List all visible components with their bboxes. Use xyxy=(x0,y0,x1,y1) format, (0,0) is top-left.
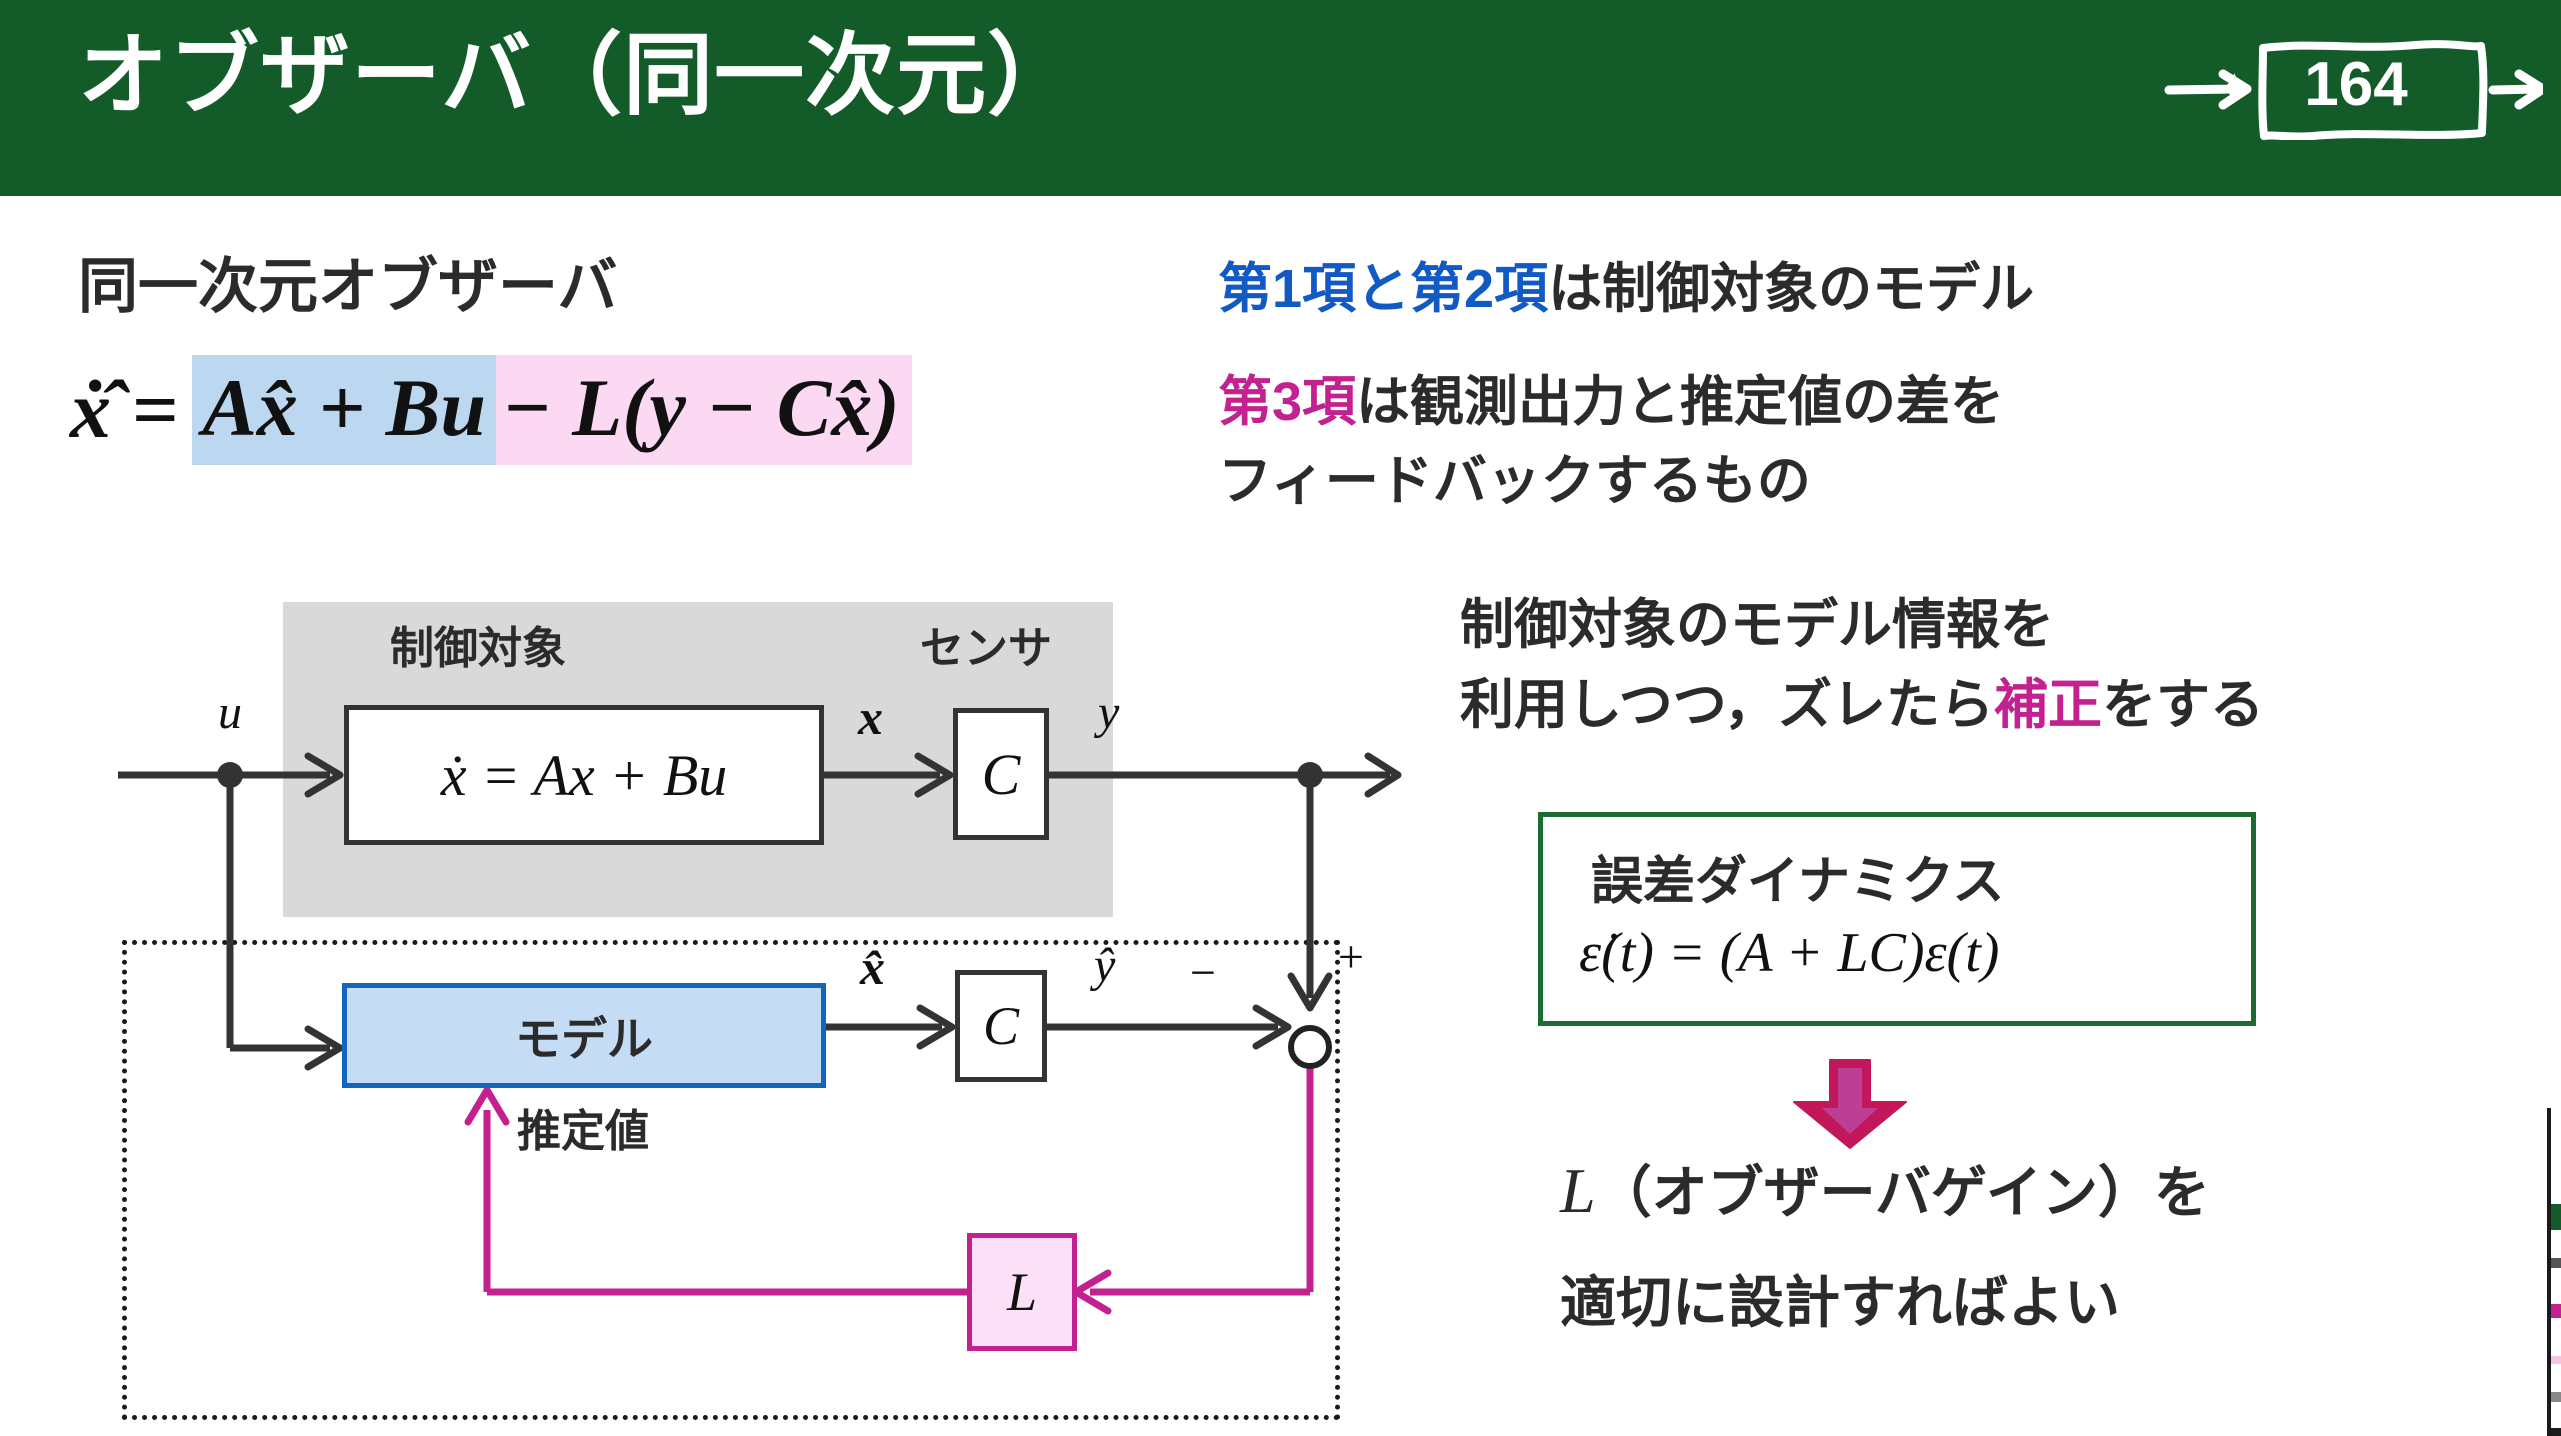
note-line-1: 第1項と第2項は制御対象のモデル xyxy=(1218,252,2034,327)
note-2-rest: は観測出力と推定値の差を xyxy=(1356,372,2004,432)
note-1-highlight: 第1項と第2項 xyxy=(1218,259,1548,319)
equation-term-model: Ax̂ + Bu xyxy=(192,355,496,465)
note-5-suffix: をする xyxy=(2102,675,2264,735)
sensor-label: センサ xyxy=(920,612,1052,676)
signal-label-yhat: ŷ xyxy=(1094,938,1115,993)
note-5-highlight: 補正 xyxy=(1994,675,2102,735)
note-2-highlight: 第3項 xyxy=(1218,372,1356,432)
sliver-mark-3 xyxy=(2551,1392,2561,1402)
estimate-label: 推定値 xyxy=(517,1095,649,1159)
note-1-rest: は制御対象のモデル xyxy=(1548,259,2034,319)
equation-lhs: ẋ̂ = xyxy=(70,363,178,457)
error-dynamics-equation: ε̇(t) = (A + LC)ε(t) xyxy=(1579,921,1999,985)
sliver-green-band xyxy=(2551,1204,2561,1230)
signal-label-y: y xyxy=(1098,685,1119,740)
sliver-dark-band xyxy=(2551,1428,2561,1436)
sensor-block: C xyxy=(953,708,1049,840)
model-output-block: C xyxy=(955,970,1047,1082)
observer-gain-symbol: L xyxy=(1560,1155,1596,1226)
sliver-mark-1 xyxy=(2551,1258,2561,1268)
observer-gain-block: L xyxy=(967,1233,1077,1351)
note-line-4: 制御対象のモデル情報を xyxy=(1460,588,2054,663)
signal-label-u: u xyxy=(218,685,242,740)
slide-header: オブザーバ（同一次元） 164 xyxy=(0,0,2561,196)
error-dynamics-title: 誤差ダイナミクス xyxy=(1591,839,2004,914)
signal-label-x: x xyxy=(858,688,883,746)
observer-equation: ẋ̂ = Ax̂ + Bu − L(y − Cx̂) xyxy=(70,355,912,465)
conclusion-line-1: L（オブザーバゲイン）を xyxy=(1560,1148,2210,1229)
conclusion-line-1-text: （オブザーバゲイン）を xyxy=(1596,1161,2210,1224)
page-number-badge: 164 xyxy=(2163,28,2543,140)
error-dynamics-box: 誤差ダイナミクス ε̇(t) = (A + LC)ε(t) xyxy=(1538,812,2256,1026)
note-line-5: 利用しつつ，ズレたら補正をする xyxy=(1460,668,2264,743)
conclusion-line-2: 適切に設計すればよい xyxy=(1560,1258,2120,1339)
equation-term-correction: − L(y − Cx̂) xyxy=(496,355,912,465)
down-arrow-icon xyxy=(1790,1058,1910,1155)
signal-label-xhat: x̂ xyxy=(860,938,885,996)
slide-canvas: オブザーバ（同一次元） 164 同一次元オブザーバ ẋ̂ = Ax̂ + Bu … xyxy=(0,0,2561,1436)
note-line-3: フィードバックするもの xyxy=(1218,444,1811,519)
sliver-mark-2 xyxy=(2551,1356,2561,1364)
page-title: オブザーバ（同一次元） xyxy=(78,20,1078,133)
model-block: モデル xyxy=(342,983,826,1088)
sign-minus-label: − xyxy=(1190,946,1216,999)
plant-block: ẋ = Ax + Bu xyxy=(344,705,824,845)
sliver-magenta-mark xyxy=(2551,1304,2561,1318)
sign-plus-label: + xyxy=(1338,930,1364,983)
adjacent-slide-sliver xyxy=(2547,1108,2561,1436)
page-number-text: 164 xyxy=(2163,28,2543,140)
plant-group-label: 制御対象 xyxy=(390,612,566,676)
note-5-prefix: 利用しつつ，ズレたら xyxy=(1460,675,1994,735)
note-line-2: 第3項は観測出力と推定値の差を xyxy=(1218,365,2004,440)
section-heading: 同一次元オブザーバ xyxy=(78,238,617,325)
block-diagram: 制御対象 センサ 推定値 u x y x̂ ŷ − + ẋ = Ax + Bu … xyxy=(0,580,1460,1410)
summing-junction xyxy=(1288,1025,1332,1069)
